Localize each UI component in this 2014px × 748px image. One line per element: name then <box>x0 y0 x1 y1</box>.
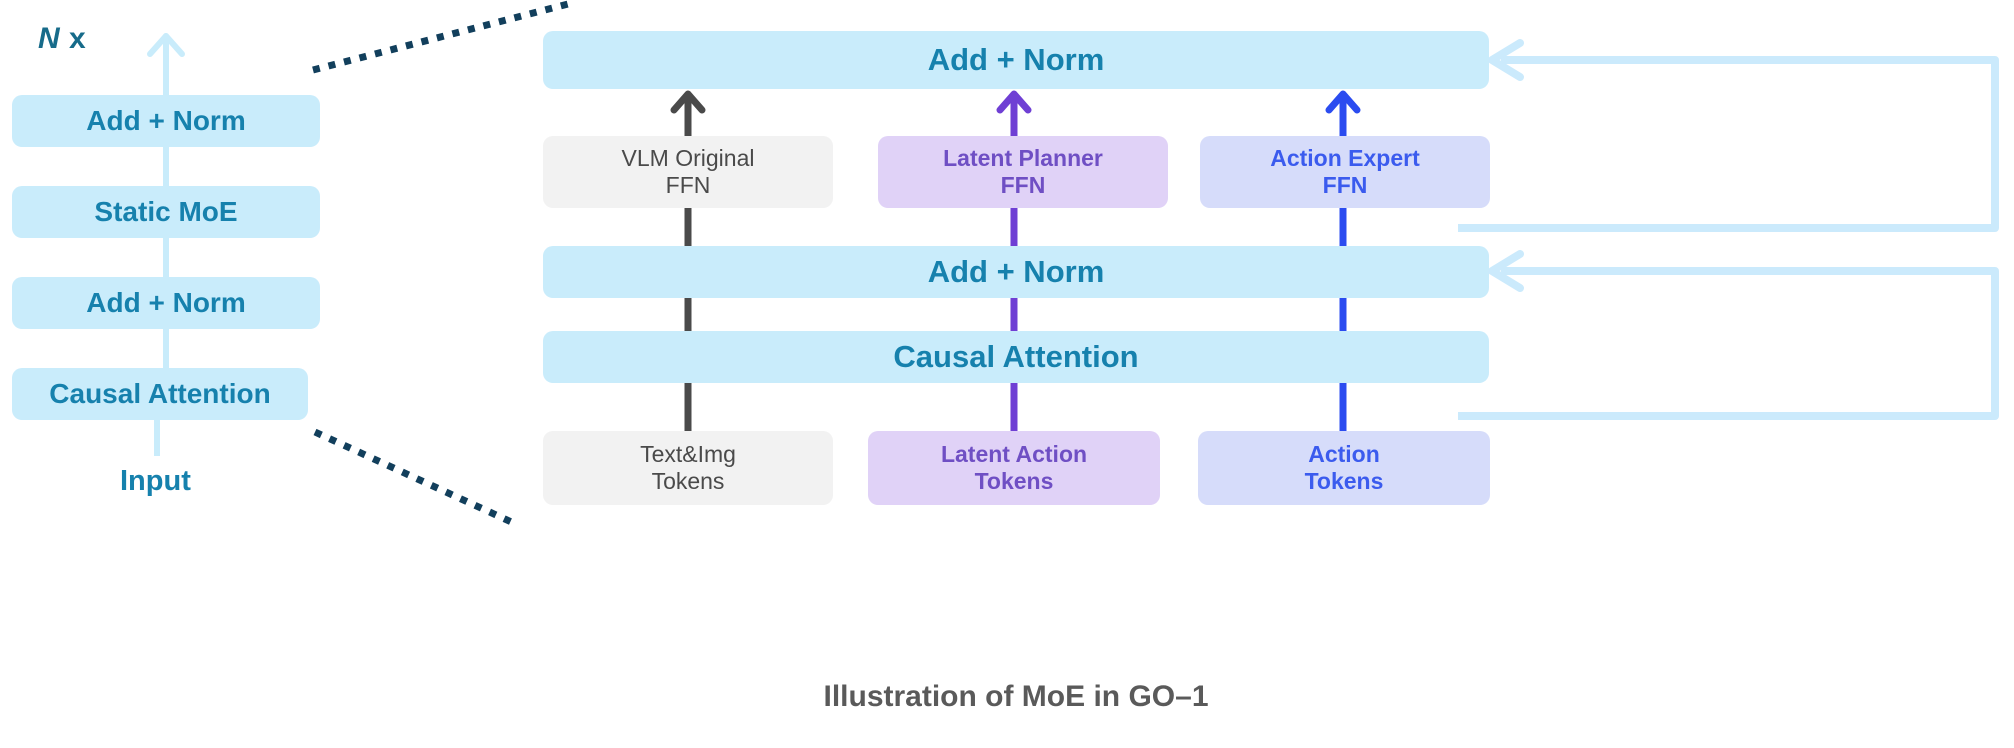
token-box-text: Latent ActionTokens <box>941 441 1087 495</box>
left-connector-4 <box>154 420 160 456</box>
blue-arrow-head-to-top-addnorm <box>1329 94 1357 110</box>
left-block-causal-attention: Causal Attention <box>12 368 308 420</box>
ffn-box-vlm-original: VLM OriginalFFN <box>543 136 833 208</box>
right-mid-add-norm-bar: Add + Norm <box>543 246 1489 298</box>
left-block-add-norm-top: Add + Norm <box>12 95 320 147</box>
token-box-action: ActionTokens <box>1198 431 1490 505</box>
left-block-label: Add + Norm <box>86 286 245 319</box>
callout-line-top <box>313 4 568 70</box>
left-connector-2 <box>163 238 169 278</box>
ffn-box-latent-planner: Latent PlannerFFN <box>878 136 1168 208</box>
figure-caption: Illustration of MoE in GO–1 <box>543 680 1489 714</box>
ffn-box-action-expert: Action ExpertFFN <box>1200 136 1490 208</box>
residual-path-lower <box>1458 271 1995 416</box>
left-block-label: Add + Norm <box>86 104 245 137</box>
token-box-text: Text&ImgTokens <box>640 441 736 495</box>
token-box-text: ActionTokens <box>1305 441 1384 495</box>
callout-line-bottom <box>315 432 518 525</box>
token-box-text-img: Text&ImgTokens <box>543 431 833 505</box>
right-top-add-norm-bar: Add + Norm <box>543 31 1489 89</box>
left-block-label: Causal Attention <box>49 377 270 410</box>
purple-arrow-head-to-top-addnorm <box>1000 94 1028 110</box>
bar-label: Causal Attention <box>893 339 1138 376</box>
ffn-box-text: Latent PlannerFFN <box>943 145 1103 199</box>
left-connector-1 <box>163 147 169 187</box>
ffn-box-text: Action ExpertFFN <box>1270 145 1420 199</box>
moe-diagram-figure: N x Add + Norm Static MoE Add + Norm Cau… <box>0 0 2014 748</box>
grey-arrow-head-to-top-addnorm <box>674 94 702 110</box>
repeat-count-label: N x <box>38 22 86 56</box>
bar-label: Add + Norm <box>928 254 1105 291</box>
residual-arrowhead-lower <box>1492 254 1520 288</box>
left-block-static-moe: Static MoE <box>12 186 320 238</box>
right-causal-attention-bar: Causal Attention <box>543 331 1489 383</box>
ffn-box-text: VLM OriginalFFN <box>622 145 755 199</box>
residual-path-upper <box>1458 60 1995 228</box>
left-block-label: Static MoE <box>94 195 237 228</box>
left-output-arrow-head <box>150 36 182 54</box>
residual-arrowhead-upper <box>1492 43 1520 77</box>
bar-label: Add + Norm <box>928 42 1105 79</box>
left-block-add-norm-bottom: Add + Norm <box>12 277 320 329</box>
left-connector-3 <box>163 329 169 369</box>
input-label: Input <box>120 465 191 498</box>
token-box-latent-action: Latent ActionTokens <box>868 431 1160 505</box>
